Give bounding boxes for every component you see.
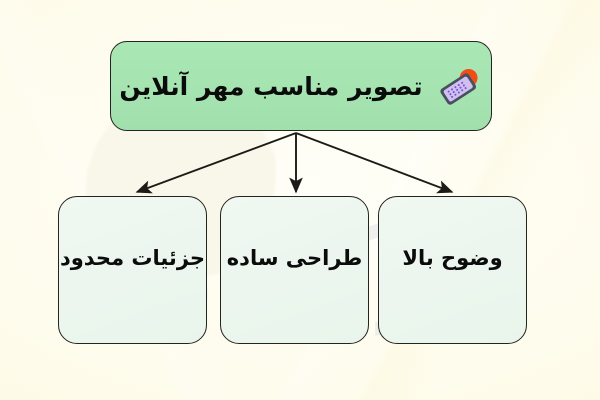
child-node-label: طراحی ساده [227,246,362,270]
edge-root-to-leaf-0 [137,133,296,192]
root-node-label: تصویر مناسب مهر آنلاین [119,72,422,101]
stamp-seal-icon [437,63,483,109]
diagram-canvas: وکادر [0,0,600,400]
child-node-simple-design[interactable]: طراحی ساده [220,196,369,344]
edge-root-to-leaf-2 [296,133,452,192]
child-node-label: وضوح بالا [402,246,502,270]
child-node-label: جزئیات محدود [60,246,205,270]
child-node-high-clarity[interactable]: وضوح بالا [378,196,527,344]
child-node-limited-details[interactable]: جزئیات محدود [58,196,207,344]
root-node[interactable]: تصویر مناسب مهر آنلاین [110,41,492,131]
